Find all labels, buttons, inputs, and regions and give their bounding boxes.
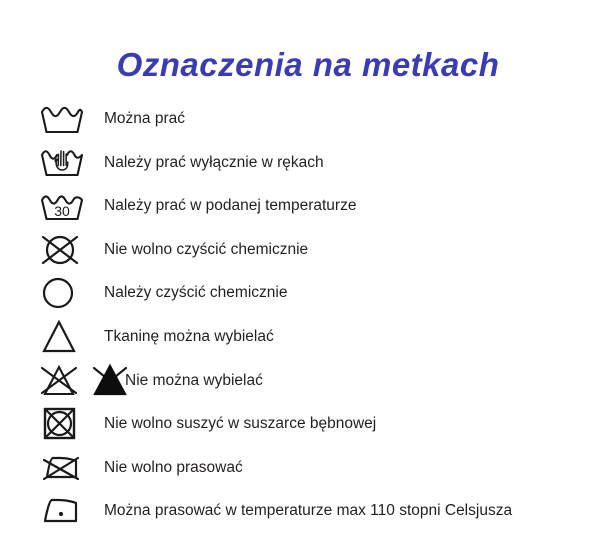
icon-cell <box>0 402 104 446</box>
list-item: Należy prać wyłącznie w rękach <box>0 141 616 185</box>
list-item: Nie wolno czyścić chemicznie <box>0 228 616 272</box>
list-item-label: Nie wolno prasować <box>104 460 243 476</box>
icon-cell <box>0 97 104 141</box>
list-item-label: Nie wolno czyścić chemicznie <box>104 242 308 258</box>
tumble-dry-crossed-icon <box>38 406 82 442</box>
list-item: Można prasować w temperaturze max 110 st… <box>0 489 616 533</box>
list-item: Tkaninę można wybielać <box>0 315 616 359</box>
icon-cell <box>0 271 104 315</box>
hand-wash-tub-icon <box>38 145 86 179</box>
care-symbols-page: Oznaczenia na metkach Można prać <box>0 0 616 547</box>
triangle-filled-crossed-icon <box>88 362 132 398</box>
list-item-label: Można prać <box>104 111 185 127</box>
circle-icon <box>38 275 82 311</box>
iron-crossed-icon <box>38 450 84 486</box>
icon-cell <box>0 228 104 272</box>
list-item-label: Nie można wybielać <box>125 373 263 389</box>
list-item: Nie można wybielać <box>0 359 616 403</box>
icon-cell <box>0 315 104 359</box>
page-title: Oznaczenia na metkach <box>0 46 616 84</box>
list-item: Nie wolno prasować <box>0 446 616 490</box>
circle-crossed-icon <box>38 232 82 268</box>
list-item-label: Należy prać wyłącznie w rękach <box>104 155 324 171</box>
triangle-crossed-icon <box>38 362 82 398</box>
list-item: 30 Należy prać w podanej temperaturze <box>0 184 616 228</box>
iron-one-dot-icon <box>38 494 84 528</box>
list-item-label: Tkaninę można wybielać <box>104 329 274 345</box>
wash-tub-icon <box>38 103 86 135</box>
triangle-icon <box>38 319 82 355</box>
list-item-label: Nie wolno suszyć w suszarce bębnowej <box>104 416 376 432</box>
list-item-label: Należy prać w podanej temperaturze <box>104 198 356 214</box>
list-item-label: Należy czyścić chemicznie <box>104 285 287 301</box>
wash-tub-30-icon: 30 <box>38 190 86 222</box>
list-item: Nie wolno suszyć w suszarce bębnowej <box>0 402 616 446</box>
list-item-label: Można prasować w temperaturze max 110 st… <box>104 503 512 519</box>
list-item: Można prać <box>0 97 616 141</box>
symbol-list: Można prać <box>0 97 616 533</box>
wash-temperature-value: 30 <box>54 203 70 219</box>
icon-cell <box>0 359 104 403</box>
icon-cell <box>0 141 104 185</box>
icon-cell <box>0 446 104 490</box>
icon-cell: 30 <box>0 184 104 228</box>
icon-cell <box>0 489 104 533</box>
list-item: Należy czyścić chemicznie <box>0 271 616 315</box>
